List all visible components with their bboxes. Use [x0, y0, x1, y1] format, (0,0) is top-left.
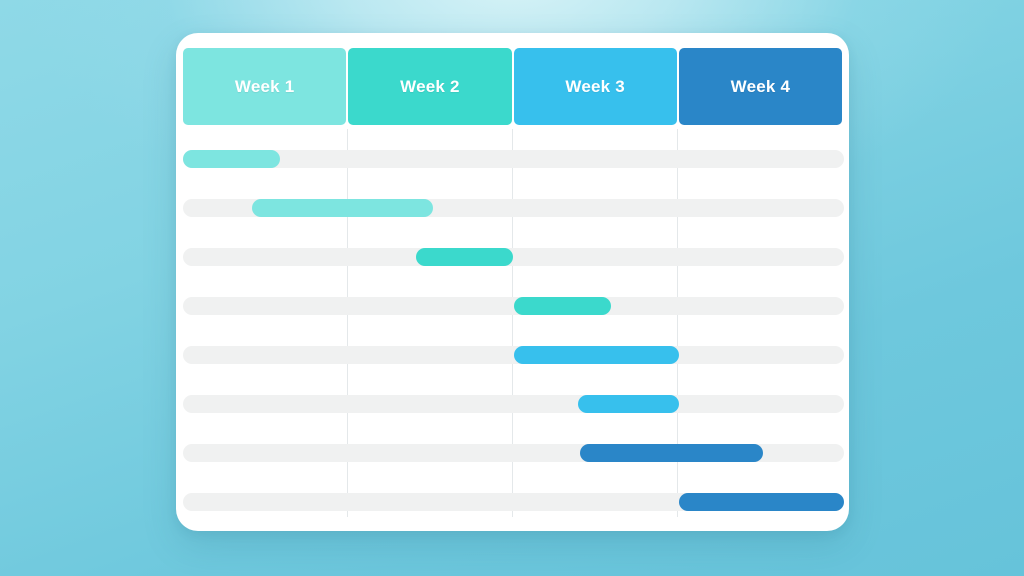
week-header-label-2: Week 2: [400, 77, 459, 97]
task-row: [183, 297, 844, 315]
task-bar[interactable]: [416, 248, 513, 266]
task-track: [183, 395, 844, 413]
week-header-label-3: Week 3: [565, 77, 624, 97]
task-row: [183, 346, 844, 364]
task-rows-container: [183, 150, 844, 531]
task-row: [183, 493, 844, 511]
task-row: [183, 248, 844, 266]
task-bar[interactable]: [679, 493, 844, 511]
task-row: [183, 199, 844, 217]
task-row: [183, 444, 844, 462]
week-header-label-4: Week 4: [731, 77, 790, 97]
task-track: [183, 248, 844, 266]
task-bar[interactable]: [252, 199, 432, 217]
task-bar[interactable]: [580, 444, 763, 462]
gantt-chart-card: Week 1 Week 2 Week 3 Week 4: [176, 33, 849, 531]
task-bar[interactable]: [514, 297, 611, 315]
week-header-label-1: Week 1: [235, 77, 294, 97]
week-header-cell-1[interactable]: Week 1: [183, 48, 346, 125]
week-header-cell-2[interactable]: Week 2: [348, 48, 511, 125]
task-bar[interactable]: [514, 346, 679, 364]
task-bar[interactable]: [183, 150, 280, 168]
task-track: [183, 150, 844, 168]
task-bar[interactable]: [578, 395, 679, 413]
task-row: [183, 395, 844, 413]
week-header-cell-3[interactable]: Week 3: [514, 48, 677, 125]
week-header-cell-4[interactable]: Week 4: [679, 48, 842, 125]
week-header-row: Week 1 Week 2 Week 3 Week 4: [183, 48, 842, 125]
task-row: [183, 150, 844, 168]
